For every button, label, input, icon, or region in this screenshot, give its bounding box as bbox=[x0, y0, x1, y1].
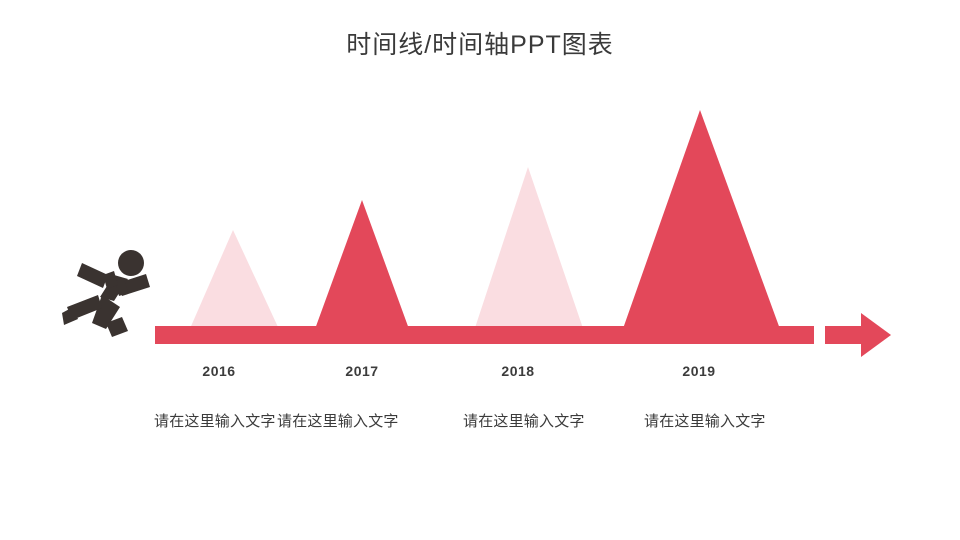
timeline-break-gap-1 bbox=[816, 326, 819, 344]
timeline-baseline-bar bbox=[155, 326, 814, 344]
slide-canvas: 时间线/时间轴PPT图表 bbox=[0, 0, 960, 540]
year-label-2017: 2017 bbox=[332, 363, 392, 379]
peak-2019 bbox=[619, 110, 784, 340]
caption-text-4: 请在这里输入文字 bbox=[644, 410, 766, 431]
year-label-2019: 2019 bbox=[669, 363, 729, 379]
timeline-arrow-shaft bbox=[825, 326, 865, 344]
peak-2017 bbox=[311, 200, 413, 340]
peak-2016 bbox=[185, 230, 284, 340]
timeline-break-gap-2 bbox=[822, 326, 825, 344]
running-man-icon bbox=[62, 245, 158, 337]
year-label-2016: 2016 bbox=[189, 363, 249, 379]
caption-text-2: 请在这里输入文字 bbox=[277, 410, 399, 431]
right-arrow-icon bbox=[861, 313, 891, 357]
caption-text-3: 请在这里输入文字 bbox=[463, 410, 585, 431]
caption-text-1: 请在这里输入文字 bbox=[154, 410, 276, 431]
page-title: 时间线/时间轴PPT图表 bbox=[0, 28, 960, 62]
year-label-2018: 2018 bbox=[488, 363, 548, 379]
peak-2018 bbox=[471, 167, 587, 340]
